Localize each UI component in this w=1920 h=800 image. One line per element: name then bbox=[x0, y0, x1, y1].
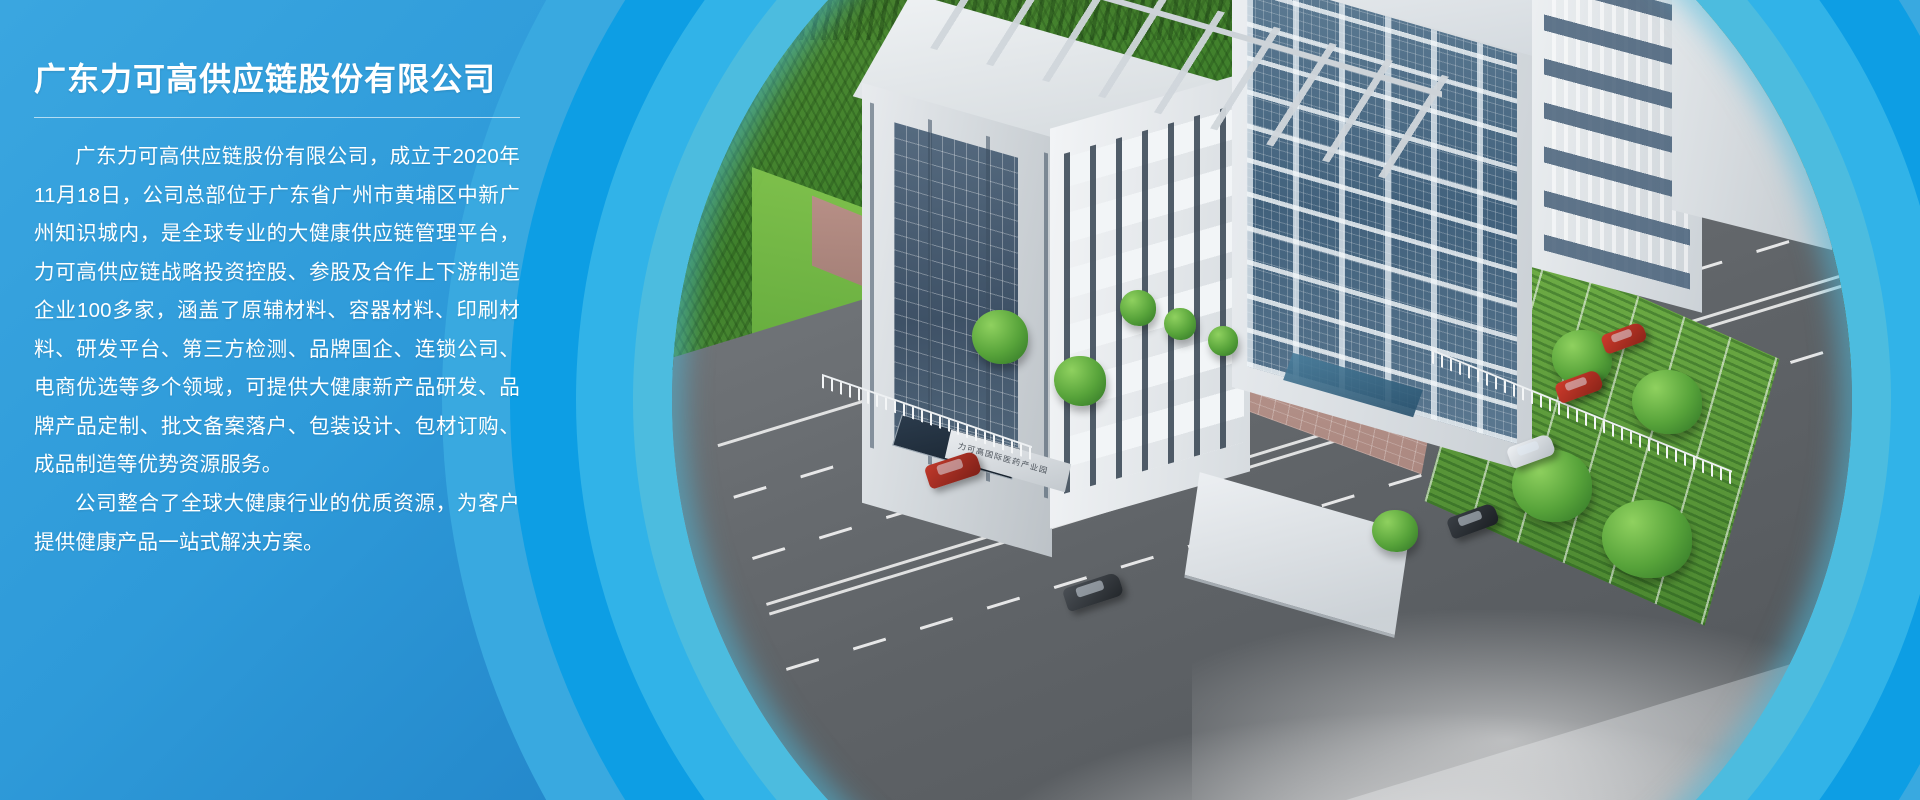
building-a-window-slots bbox=[1064, 102, 1244, 494]
atmospheric-haze bbox=[972, 710, 1852, 800]
tree bbox=[1208, 326, 1238, 356]
tree bbox=[1372, 510, 1418, 552]
tree bbox=[1054, 356, 1106, 406]
building-d bbox=[1672, 0, 1832, 250]
promo-banner: 力可高国际医药产业园 bbox=[0, 0, 1920, 800]
tree bbox=[1602, 500, 1692, 578]
page-title: 广东力可高供应链股份有限公司 bbox=[34, 58, 520, 101]
title-divider bbox=[34, 117, 520, 118]
tree bbox=[1632, 370, 1702, 434]
intro-paragraph-1: 广东力可高供应链股份有限公司，成立于2020年11月18日，公司总部位于广东省广… bbox=[34, 138, 520, 485]
campus-photo: 力可高国际医药产业园 bbox=[672, 0, 1852, 800]
tree bbox=[972, 310, 1028, 364]
tree bbox=[1164, 308, 1196, 340]
intro-paragraph-2: 公司整合了全球大健康行业的优质资源，为客户提供健康产品一站式解决方案。 bbox=[34, 485, 520, 562]
intro-text-column: 广东力可高供应链股份有限公司 广东力可高供应链股份有限公司，成立于2020年11… bbox=[0, 0, 560, 800]
tree bbox=[1120, 290, 1156, 326]
building-c-windows bbox=[1544, 0, 1690, 290]
intro-body: 广东力可高供应链股份有限公司，成立于2020年11月18日，公司总部位于广东省广… bbox=[34, 138, 520, 562]
